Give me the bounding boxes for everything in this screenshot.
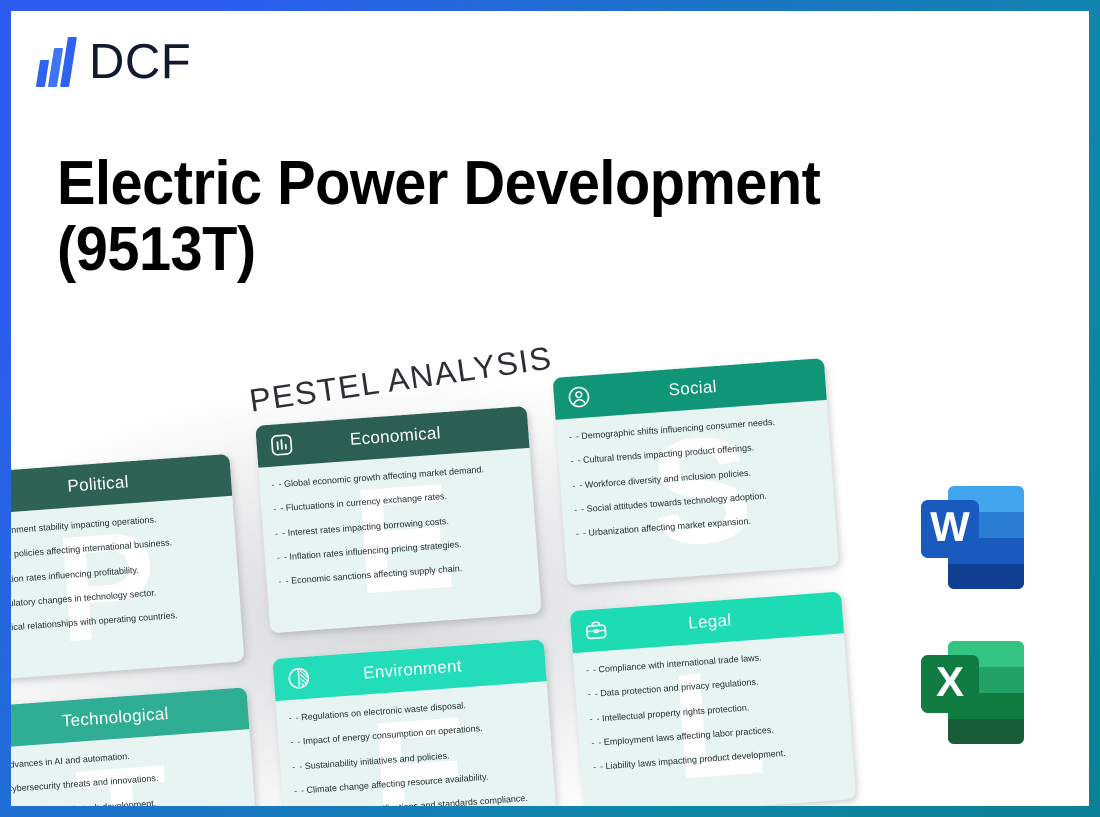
list-item: - Data protection and privacy regulation… (587, 671, 833, 700)
pestel-card-legal[interactable]: Legal L - Compliance with international … (570, 591, 857, 806)
list-item: - Employment laws affecting labor practi… (591, 720, 837, 749)
card-title-legal: Legal (608, 603, 831, 639)
list-item: - Economic sanctions affecting supply ch… (278, 559, 524, 588)
list-item: - Demographic shifts influencing consume… (568, 414, 814, 443)
card-title-economical: Economical (294, 418, 517, 454)
page-title: Electric Power Development (9513T) (57, 151, 957, 283)
card-list-political: - Government stability impacting operati… (11, 496, 241, 637)
list-item: - Cybersecurity threats and innovations. (11, 767, 239, 796)
list-item: - Urbanization affecting market expansio… (576, 511, 822, 540)
list-item: - Government stability impacting operati… (11, 510, 220, 539)
list-item: - Political relationships with operating… (11, 606, 227, 635)
list-item: - Advances in AI and automation. (11, 743, 237, 772)
brand-logo[interactable]: DCF (36, 34, 191, 90)
list-item: - Social attitudes towards technology ad… (574, 486, 820, 515)
card-list-legal: - Compliance with international trade la… (573, 633, 853, 774)
word-document-icon[interactable]: W (911, 474, 1041, 604)
card-title-technological: Technological (14, 699, 237, 735)
list-item: - Global economic growth affecting marke… (271, 462, 517, 491)
svg-text:X: X (936, 658, 964, 705)
card-title-social: Social (591, 370, 814, 406)
pestel-card-technological[interactable]: Technological T - Advances in AI and aut… (11, 687, 262, 806)
dcf-bars-logo-icon (36, 34, 80, 90)
list-item: - Liability laws impacting product devel… (593, 744, 839, 773)
page-canvas: DCF Electric Power Development (9513T) P… (11, 11, 1089, 806)
card-list-social: - Demographic shifts influencing consume… (556, 400, 836, 541)
leaf-icon (285, 664, 313, 692)
list-item: - Trade policies affecting international… (11, 534, 222, 563)
bar-chart-icon (268, 431, 296, 459)
list-item: - Compliance with international trade la… (586, 647, 832, 676)
briefcase-icon (582, 617, 610, 645)
list-item: - Climate change affecting resource avai… (294, 768, 540, 797)
list-item: - Taxation rates influencing profitabili… (11, 558, 224, 587)
list-item: - Impact of energy consumption on operat… (290, 719, 536, 748)
brand-name: DCF (89, 38, 191, 87)
card-list-environment: - Regulations on electronic waste dispos… (275, 681, 555, 806)
list-item: - Interest rates impacting borrowing cos… (275, 510, 521, 539)
pestel-card-political[interactable]: Political P - Government stability impac… (11, 454, 244, 681)
list-item: - Fluctuations in currency exchange rate… (273, 486, 519, 515)
list-item: - Regulations on electronic waste dispos… (288, 695, 534, 724)
page-title-line-2: (9513T) (57, 217, 894, 283)
list-item: - Workforce diversity and inclusion poli… (572, 462, 818, 491)
list-item: - Intellectual property rights protectio… (589, 696, 835, 725)
card-list-economical: - Global economic growth affecting marke… (258, 448, 538, 589)
list-item: - Inflation rates influencing pricing st… (277, 534, 523, 563)
list-item: - Regulatory changes in technology secto… (11, 582, 225, 611)
list-item: - Cultural trends impacting product offe… (570, 438, 816, 467)
card-title-environment: Environment (311, 651, 534, 687)
person-icon (565, 383, 593, 411)
excel-spreadsheet-icon[interactable]: X (911, 629, 1041, 759)
pestel-card-social[interactable]: Social S - Demographic shifts influencin… (553, 358, 840, 585)
card-title-political: Political (11, 466, 219, 502)
list-item: - Sustainability initiatives and policie… (292, 744, 538, 773)
pestel-card-environment[interactable]: Environment E - Regulations on electroni… (272, 639, 559, 806)
svg-text:W: W (930, 503, 970, 550)
pestel-card-economical[interactable]: Economical E - Global economic growth af… (255, 406, 542, 633)
list-item: - High R&D costs in tech development. (11, 791, 241, 806)
page-title-line-1: Electric Power Development (57, 151, 894, 217)
pestel-analysis-graphic: PESTEL ANALYSIS Political P - Government… (11, 330, 884, 806)
page-frame: DCF Electric Power Development (9513T) P… (0, 0, 1100, 817)
